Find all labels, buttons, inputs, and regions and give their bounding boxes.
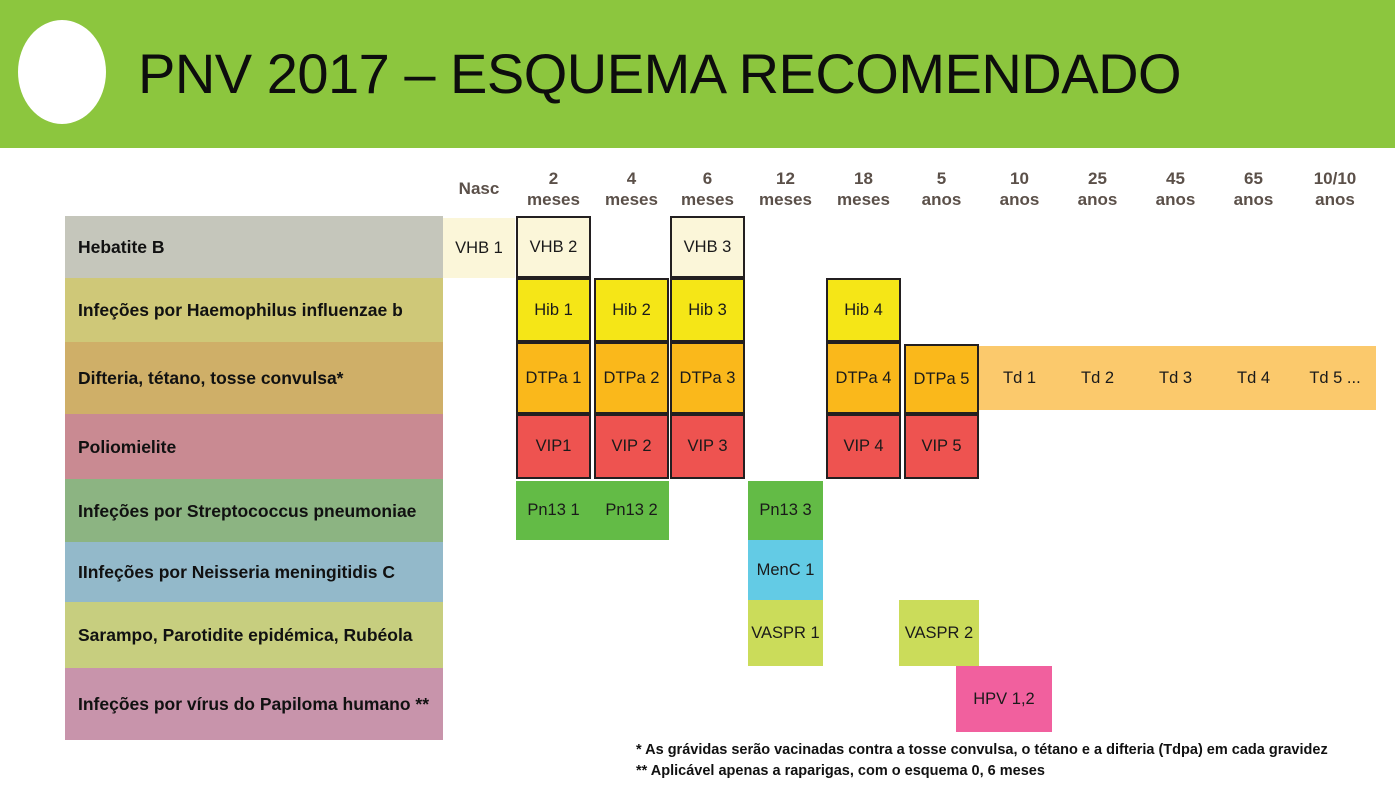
vaccine-cell-label: VIP 3 — [687, 437, 727, 456]
column-header-unit: meses — [670, 189, 745, 210]
vaccine-cell-hib-2: Hib 2 — [594, 278, 669, 342]
vaccine-cell-label: Hib 2 — [612, 301, 651, 320]
vaccine-cell-td-1: Td 1 — [982, 346, 1057, 410]
vaccine-cell-td-2: Td 2 — [1060, 346, 1135, 410]
vaccine-cell-menc-1: MenC 1 — [748, 540, 823, 600]
vaccine-cell-vaspr-1: VASPR 1 — [748, 600, 823, 666]
column-header-a5: 5anos — [904, 168, 979, 210]
vaccine-cell-label: VIP 5 — [921, 437, 961, 456]
row-label-hib: Infeções por Haemophilus influenzae b — [65, 278, 443, 342]
vaccine-cell-label: VIP1 — [536, 437, 572, 456]
row-label-dtpa: Difteria, tétano, tosse convulsa* — [65, 342, 443, 414]
bullet-circle-icon — [18, 20, 106, 124]
column-header-value: 12 — [748, 168, 823, 189]
vaccine-cell-label: VIP 2 — [611, 437, 651, 456]
vaccine-cell-label: Hib 4 — [844, 301, 883, 320]
footnote-2: ** Aplicável apenas a raparigas, com o e… — [636, 761, 1386, 782]
row-label-text: Poliomielite — [78, 436, 176, 458]
vaccine-cell-label: Td 4 — [1237, 369, 1270, 388]
row-label-hpv: Infeções por vírus do Papiloma humano ** — [65, 668, 443, 740]
column-header-a45: 45anos — [1138, 168, 1213, 210]
column-header-a10: 10anos — [982, 168, 1057, 210]
column-header-a65: 65anos — [1216, 168, 1291, 210]
vaccine-cell-label: HPV 1,2 — [973, 690, 1034, 709]
column-header-value: 6 — [670, 168, 745, 189]
vaccine-cell-vip-1: VIP1 — [516, 414, 591, 479]
row-label-text: Infeções por Streptococcus pneumoniae — [78, 500, 416, 522]
vaccine-cell-vhb-3: VHB 3 — [670, 216, 745, 278]
column-header-nasc: Nasc — [443, 178, 515, 199]
column-header-unit: anos — [1138, 189, 1213, 210]
vaccine-cell-label: Pn13 1 — [527, 501, 579, 520]
vaccine-cell-vhb-2: VHB 2 — [516, 216, 591, 278]
vaccine-cell-vip-3: VIP 3 — [670, 414, 745, 479]
column-header-m2: 2meses — [516, 168, 591, 210]
page-title: PNV 2017 – ESQUEMA RECOMENDADO — [138, 30, 1238, 118]
vaccine-cell-label: MenC 1 — [757, 561, 815, 580]
vaccine-cell-dtpa-1: DTPa 1 — [516, 342, 591, 414]
vaccine-cell-label: DTPa 2 — [604, 369, 660, 388]
column-header-unit: anos — [1216, 189, 1291, 210]
column-header-value: 65 — [1216, 168, 1291, 189]
vaccine-cell-label: VASPR 2 — [905, 624, 973, 643]
vaccine-cell-label: VIP 4 — [843, 437, 883, 456]
vaccine-cell-label: Pn13 3 — [759, 501, 811, 520]
column-header-value: 10 — [982, 168, 1057, 189]
vaccine-cell-label: Hib 3 — [688, 301, 727, 320]
column-header-unit: Nasc — [443, 178, 515, 199]
vaccine-cell-label: Td 5 ... — [1309, 369, 1360, 388]
vaccine-cell-td-5: Td 5 ... — [1294, 346, 1376, 410]
vaccine-cell-label: VASPR 1 — [751, 624, 819, 643]
vaccine-cell-pn13-2: Pn13 2 — [594, 481, 669, 540]
column-header-unit: meses — [826, 189, 901, 210]
row-label-text: Difteria, tétano, tosse convulsa* — [78, 367, 344, 389]
vaccine-cell-dtpa-3: DTPa 3 — [670, 342, 745, 414]
footnotes: * As grávidas serão vacinadas contra a t… — [636, 740, 1386, 782]
column-header-value: 18 — [826, 168, 901, 189]
column-header-value: 4 — [594, 168, 669, 189]
column-header-unit: anos — [904, 189, 979, 210]
column-header-a25: 25anos — [1060, 168, 1135, 210]
vaccine-cell-td-3: Td 3 — [1138, 346, 1213, 410]
vaccine-cell-hpv-12: HPV 1,2 — [956, 666, 1052, 732]
vaccine-cell-dtpa-2: DTPa 2 — [594, 342, 669, 414]
row-label-menc: IInfeções por Neisseria meningitidis C — [65, 542, 443, 602]
vaccination-schedule-slide: PNV 2017 – ESQUEMA RECOMENDADO Nasc2mese… — [0, 0, 1395, 804]
vaccine-cell-hib-1: Hib 1 — [516, 278, 591, 342]
vaccine-cell-label: Td 3 — [1159, 369, 1192, 388]
row-label-pneumo: Infeções por Streptococcus pneumoniae — [65, 479, 443, 542]
vaccine-cell-vip-4: VIP 4 — [826, 414, 901, 479]
column-header-unit: anos — [1294, 189, 1376, 210]
vaccine-cell-label: Pn13 2 — [605, 501, 657, 520]
column-header-value: 2 — [516, 168, 591, 189]
column-header-value: 25 — [1060, 168, 1135, 189]
vaccine-cell-td-4: Td 4 — [1216, 346, 1291, 410]
vaccine-cell-pn13-3: Pn13 3 — [748, 481, 823, 540]
vaccine-cell-vip-5: VIP 5 — [904, 414, 979, 479]
column-header-a1010: 10/10anos — [1294, 168, 1376, 210]
row-label-text: Infeções por vírus do Papiloma humano ** — [78, 693, 429, 715]
column-header-unit: meses — [748, 189, 823, 210]
row-label-text: IInfeções por Neisseria meningitidis C — [78, 561, 395, 583]
vaccine-cell-label: DTPa 1 — [526, 369, 582, 388]
column-header-m4: 4meses — [594, 168, 669, 210]
column-header-m6: 6meses — [670, 168, 745, 210]
vaccine-cell-vip-2: VIP 2 — [594, 414, 669, 479]
row-label-text: Sarampo, Parotidite epidémica, Rubéola — [78, 624, 413, 646]
column-header-unit: anos — [982, 189, 1057, 210]
vaccine-cell-label: DTPa 4 — [836, 369, 892, 388]
vaccine-cell-pn13-1: Pn13 1 — [516, 481, 591, 540]
vaccine-cell-dtpa-5: DTPa 5 — [904, 344, 979, 414]
row-label-polio: Poliomielite — [65, 414, 443, 479]
vaccine-cell-label: VHB 3 — [684, 238, 732, 257]
column-header-value: 45 — [1138, 168, 1213, 189]
column-header-unit: anos — [1060, 189, 1135, 210]
vaccine-cell-label: Td 1 — [1003, 369, 1036, 388]
vaccine-cell-label: Td 2 — [1081, 369, 1114, 388]
vaccine-cell-label: DTPa 5 — [914, 370, 970, 389]
column-header-value: 5 — [904, 168, 979, 189]
footnote-1: * As grávidas serão vacinadas contra a t… — [636, 740, 1386, 761]
row-label-text: Hebatite B — [78, 236, 165, 258]
vaccine-cell-vaspr-2: VASPR 2 — [899, 600, 979, 666]
vaccine-cell-label: VHB 2 — [530, 238, 578, 257]
vaccine-cell-dtpa-4: DTPa 4 — [826, 342, 901, 414]
row-label-hepb: Hebatite B — [65, 216, 443, 278]
column-header-m18: 18meses — [826, 168, 901, 210]
column-header-value: 10/10 — [1294, 168, 1376, 189]
vaccine-cell-label: VHB 1 — [455, 239, 503, 258]
column-header-m12: 12meses — [748, 168, 823, 210]
vaccine-cell-label: DTPa 3 — [680, 369, 736, 388]
column-header-unit: meses — [516, 189, 591, 210]
row-label-text: Infeções por Haemophilus influenzae b — [78, 299, 403, 321]
row-label-vaspr: Sarampo, Parotidite epidémica, Rubéola — [65, 602, 443, 668]
title-band: PNV 2017 – ESQUEMA RECOMENDADO — [0, 0, 1395, 148]
vaccine-cell-hib-3: Hib 3 — [670, 278, 745, 342]
vaccine-cell-label: Hib 1 — [534, 301, 573, 320]
column-header-unit: meses — [594, 189, 669, 210]
vaccine-cell-hib-4: Hib 4 — [826, 278, 901, 342]
vaccine-cell-vhb-1: VHB 1 — [443, 218, 515, 278]
